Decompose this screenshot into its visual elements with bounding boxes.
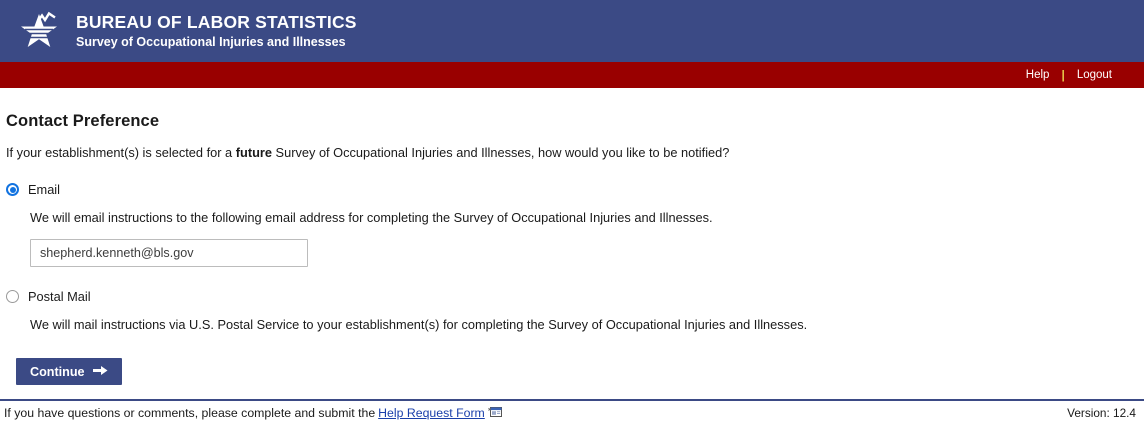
logout-link[interactable]: Logout xyxy=(1065,69,1124,81)
footer-help-text: If you have questions or comments, pleas… xyxy=(4,406,502,420)
survey-name: Survey of Occupational Injuries and Illn… xyxy=(76,35,357,49)
page-title: Contact Preference xyxy=(6,112,1144,131)
radio-email[interactable] xyxy=(6,183,19,196)
question-text: If your establishment(s) is selected for… xyxy=(6,145,1144,160)
version-label: Version: 12.4 xyxy=(1067,406,1140,420)
arrow-right-icon xyxy=(93,365,108,378)
footer-text: If you have questions or comments, pleas… xyxy=(4,406,375,420)
email-input[interactable] xyxy=(30,239,308,267)
help-request-form-link[interactable]: Help Request Form xyxy=(378,406,485,420)
option-email: Email We will email instructions to the … xyxy=(6,182,1144,267)
question-emphasis: future xyxy=(236,145,272,160)
main-content: Contact Preference If your establishment… xyxy=(0,112,1144,385)
page-footer: If you have questions or comments, pleas… xyxy=(0,399,1144,425)
radio-label-postal-mail: Postal Mail xyxy=(28,289,91,304)
option-description-email: We will email instructions to the follow… xyxy=(30,210,1144,225)
radio-row-postal-mail[interactable]: Postal Mail xyxy=(6,289,1144,304)
radio-postal-mail[interactable] xyxy=(6,290,19,303)
question-prefix: If your establishment(s) is selected for… xyxy=(6,145,236,160)
help-link[interactable]: Help xyxy=(1014,69,1062,81)
site-header: BUREAU OF LABOR STATISTICS Survey of Occ… xyxy=(0,0,1144,62)
continue-button[interactable]: Continue xyxy=(16,358,122,385)
radio-label-email: Email xyxy=(28,182,60,197)
utility-nav-bar: Help | Logout xyxy=(0,62,1144,88)
bls-star-chart-logo-icon xyxy=(16,8,62,54)
radio-row-email[interactable]: Email xyxy=(6,182,1144,197)
question-suffix: Survey of Occupational Injuries and Illn… xyxy=(272,145,729,160)
new-window-icon[interactable] xyxy=(488,406,502,420)
org-name: BUREAU OF LABOR STATISTICS xyxy=(76,12,357,32)
continue-button-label: Continue xyxy=(30,365,85,379)
option-description-postal-mail: We will mail instructions via U.S. Posta… xyxy=(30,317,1144,332)
option-postal-mail: Postal Mail We will mail instructions vi… xyxy=(6,289,1144,332)
